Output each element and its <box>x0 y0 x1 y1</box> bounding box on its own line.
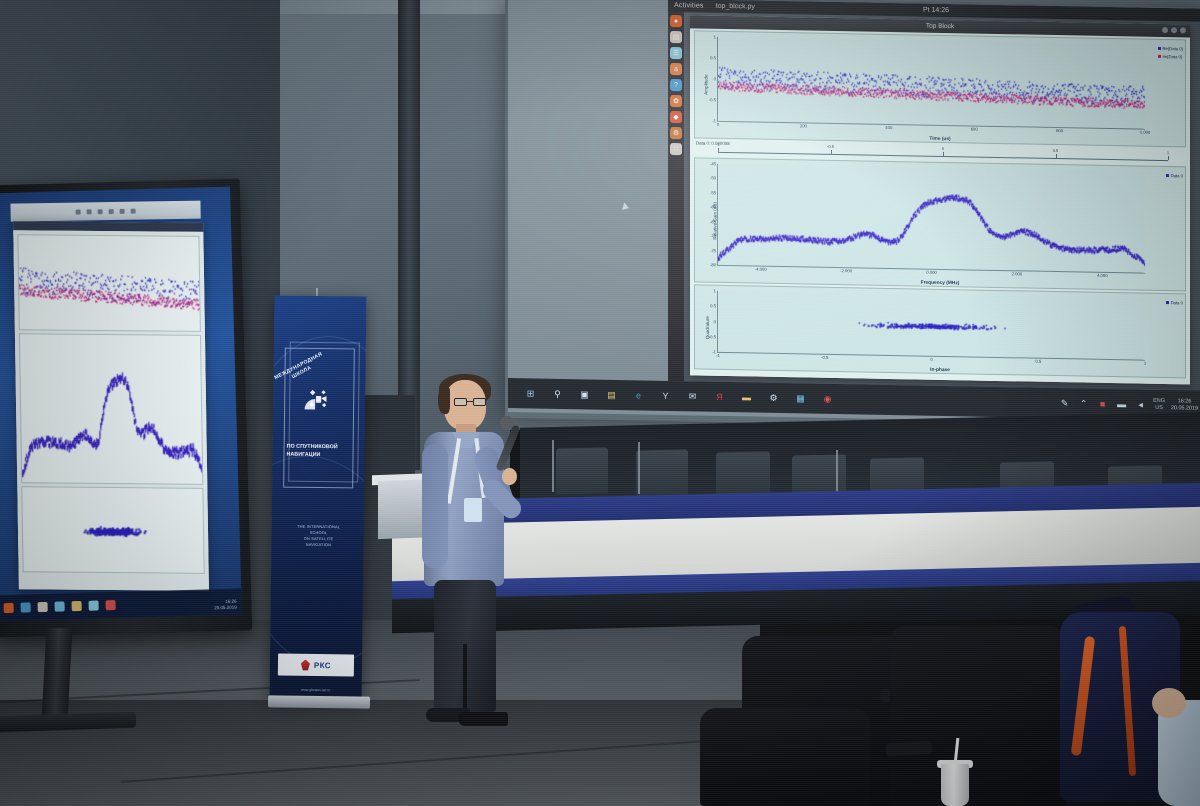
time-plot-legend[interactable]: Re{Data 0} Im{Data 0} <box>1158 46 1184 59</box>
audience-seat <box>890 626 1066 806</box>
slider-tick <box>1056 154 1057 158</box>
monitor-taskbar-icon[interactable] <box>71 601 81 611</box>
monitor-clock-date: 20.05.2019 <box>214 604 237 610</box>
constellation-plot[interactable]: Quadrature 1 0.5 0 -0.5 -1 -1 -0.5 0 0.5… <box>694 284 1186 378</box>
ytick: 0.5 <box>710 55 716 60</box>
xtick: 400 <box>885 125 892 130</box>
ytick: -0.5 <box>709 334 716 339</box>
xtick: 1 <box>1144 361 1146 366</box>
ytick: -55 <box>710 190 716 195</box>
stage-chair <box>716 451 770 498</box>
rks-logo: РКС <box>278 654 354 677</box>
xtick: 200 <box>800 123 807 128</box>
system-tray[interactable]: ✎ ⌃ ■ ▬ ◂ ENG US 16:26 20.05.2019 <box>1058 396 1198 412</box>
legend-entry: Data 0 <box>1166 173 1183 178</box>
const-plot-xlabel: In-phase <box>930 368 950 373</box>
ytick: -0.5 <box>709 97 716 102</box>
settings-gear-icon[interactable]: ⚙ <box>767 391 780 404</box>
legend-swatch <box>1166 174 1169 177</box>
time-domain-plot[interactable]: Amplitude 1 0.5 0 -0.5 -1 0 200 400 600 … <box>694 30 1186 147</box>
banner-title-en: THE INTERNATIONAL SCHOOL ON SATELLITE NA… <box>281 524 355 549</box>
media-player-icon[interactable]: ◉ <box>821 392 834 405</box>
slider-tick <box>943 152 944 156</box>
data-readout-label: Data 0: 0.000008 <box>696 140 730 146</box>
rks-logo-text: РКС <box>314 660 331 669</box>
monitor-taskbar-icon[interactable] <box>21 602 31 612</box>
xtick: -1 <box>716 353 720 358</box>
show-apps-icon[interactable]: ∷ <box>670 143 682 155</box>
window-controls[interactable] <box>1162 27 1186 33</box>
photos-icon[interactable]: ▦ <box>794 392 807 405</box>
task-view-icon[interactable]: ▣ <box>578 388 591 401</box>
banner-subtitle-ru: ПО СПУТНИКОВОЙ НАВИГАЦИИ <box>286 444 350 460</box>
xtick: 0 <box>930 357 932 362</box>
presenter <box>408 372 528 760</box>
ytick: 0.5 <box>710 303 716 308</box>
legend-entry: Re{Data 0} <box>1158 46 1184 51</box>
monitor-time-plot <box>17 234 201 332</box>
toolbar-icon[interactable] <box>131 208 136 213</box>
legend-label: Im{Data 0} <box>1163 54 1183 59</box>
volume-icon[interactable]: ◂ <box>1134 398 1147 411</box>
toolbar-icon[interactable] <box>87 209 92 214</box>
pen-icon[interactable]: ✎ <box>1058 397 1071 410</box>
text-editor-icon[interactable]: ☰ <box>670 47 682 59</box>
clock-date: 20.05.2019 <box>1171 405 1198 412</box>
seat-armrest <box>886 741 933 756</box>
maximize-icon[interactable] <box>1171 27 1177 33</box>
legend-entry: Im{Data 0} <box>1158 54 1184 59</box>
glasses-icon <box>454 398 486 406</box>
slider-tick-label: -1 <box>716 142 720 147</box>
freq-plot-pane: -45 -50 -55 -60 -65 -70 -75 -80 -4.000 -… <box>717 164 1145 274</box>
monitor-taskbar-icon[interactable] <box>88 600 98 610</box>
toolbar-icon[interactable] <box>120 208 125 213</box>
paper-cup <box>941 764 969 806</box>
conference-badge <box>464 498 482 522</box>
mouse-cursor-icon <box>622 202 630 212</box>
banner-base <box>268 695 370 708</box>
monitor-taskbar-icon[interactable] <box>105 600 115 610</box>
conference-room-scene: Activities top_block.py Pt 14:26 ●▤☰a?✿◆… <box>0 0 1200 806</box>
slider-tick-label: 0.5 <box>1053 148 1059 153</box>
ytick: 1 <box>714 34 716 39</box>
legend-swatch <box>1158 47 1161 50</box>
monitor-taskbar-icon[interactable] <box>4 603 14 613</box>
const-plot-legend[interactable]: Data 0 <box>1166 300 1183 305</box>
slider-tick <box>831 150 832 154</box>
backpack-trim <box>1071 636 1096 756</box>
legend-swatch <box>1166 301 1169 304</box>
legend-label: Data 0 <box>1171 173 1183 178</box>
monitor-constellation-trace <box>22 487 203 573</box>
presenter-shoe <box>458 712 508 726</box>
app-menu-title[interactable]: top_block.py <box>716 3 755 11</box>
slider-tick-label: 1 <box>1167 150 1169 155</box>
constellation-points <box>718 291 1145 360</box>
freq-plot-legend[interactable]: Data 0 <box>1166 173 1183 178</box>
ytick: -50 <box>710 176 716 181</box>
presenter-hair-side <box>438 388 450 414</box>
legend-swatch <box>1158 55 1161 58</box>
time-plot-ylabel: Amplitude <box>704 74 709 95</box>
xtick: 0 <box>717 122 719 127</box>
file-explorer-icon[interactable]: ▬ <box>740 391 753 404</box>
xtick: -0.5 <box>821 355 828 360</box>
confidence-monitor-screen[interactable]: 16:26 20.05.2019 <box>0 187 242 622</box>
frequency-spectrum-plot[interactable]: Relative Gain (dB) -45 -50 -55 -60 -65 -… <box>694 157 1186 291</box>
language-bottom: US <box>1153 405 1165 412</box>
monitor-mirrored-window[interactable] <box>13 221 209 591</box>
time-plot-pane: 1 0.5 0 -0.5 -1 0 200 400 600 800 1.000 <box>717 37 1145 130</box>
close-icon[interactable] <box>1180 27 1186 33</box>
toolbar-icon[interactable] <box>76 209 81 214</box>
table-microphone <box>552 440 554 492</box>
amazon-icon[interactable]: a <box>670 63 682 75</box>
ytick: -80 <box>710 262 716 267</box>
gnuradio-plot-stack: Amplitude 1 0.5 0 -0.5 -1 0 200 400 600 … <box>690 28 1190 384</box>
xtick: -2.000 <box>840 268 852 273</box>
ytick: 0 <box>714 76 716 81</box>
const-plot-pane: 1 0.5 0 -0.5 -1 -1 -0.5 0 0.5 1 <box>717 291 1145 361</box>
edge-browser-icon[interactable]: e <box>632 389 645 402</box>
xtick: 0.000 <box>926 270 936 275</box>
language-indicator[interactable]: ENG US <box>1153 398 1165 411</box>
chevron-up-icon[interactable]: ⌃ <box>1077 397 1090 410</box>
monitor-const-plot <box>21 486 204 574</box>
battery-icon[interactable]: ▬ <box>1115 398 1128 411</box>
toolbar-icon[interactable] <box>98 209 103 214</box>
monitor-stand <box>42 628 73 720</box>
backpack-trim <box>1119 626 1136 776</box>
yandex-app-icon[interactable]: Я <box>713 390 726 403</box>
help-icon[interactable]: ? <box>670 79 682 91</box>
presenter-hand <box>502 468 517 485</box>
files-icon[interactable]: ▤ <box>670 31 682 43</box>
time-plot-xlabel: Time (us) <box>929 137 950 142</box>
monitor-window-toolbar[interactable] <box>10 201 200 222</box>
table-microphone <box>638 442 640 494</box>
xtick: 4.000 <box>1097 273 1107 278</box>
monitor-plot-stack <box>13 230 209 591</box>
ytick: -1 <box>712 118 716 123</box>
ytick: -45 <box>710 161 716 166</box>
presenter-left-arm <box>422 444 448 568</box>
ytick: 0 <box>714 319 716 324</box>
monitor-taskbar-icon[interactable] <box>54 601 64 611</box>
mail-icon[interactable]: ✉ <box>686 390 699 403</box>
xtick: 1.000 <box>1140 130 1150 135</box>
xtick: 800 <box>1056 128 1063 133</box>
microsoft-store-icon[interactable]: ▤ <box>605 388 618 401</box>
legend-entry: Data 0 <box>1166 300 1183 305</box>
monitor-time-trace <box>18 235 200 331</box>
yandex-browser-icon[interactable]: Y <box>659 389 672 402</box>
gnuradio-icon[interactable]: ◆ <box>670 111 682 123</box>
gnuradio-top-block-window[interactable]: Top Block Amplitude 1 0.5 0 -0.5 <box>690 15 1190 384</box>
audience-seat <box>700 708 870 806</box>
monitor-tray[interactable]: 16:26 20.05.2019 <box>214 599 237 610</box>
settings-icon[interactable]: ⚙ <box>670 127 682 139</box>
slider-tick <box>718 148 719 152</box>
stage-chair <box>636 449 688 496</box>
monitor-spectrum-trace <box>20 334 202 484</box>
search-icon[interactable]: ⚲ <box>551 387 564 400</box>
ytick: -70 <box>710 233 716 238</box>
legend-label: Data 0 <box>1171 300 1183 305</box>
stage-chair <box>556 447 608 494</box>
slider-tick-label: -0.5 <box>827 144 834 149</box>
xtick: 600 <box>971 126 978 131</box>
spectrum-trace <box>718 164 1145 273</box>
slider-tick <box>1168 156 1169 160</box>
slider-tick-label: 0 <box>942 146 944 151</box>
monitor-taskbar-icon[interactable] <box>38 602 48 612</box>
gnome-clock[interactable]: Pt 14:26 <box>923 7 949 14</box>
xtick: 0.5 <box>1035 359 1041 364</box>
window-title: Top Block <box>926 23 954 31</box>
network-icon[interactable]: ■ <box>1096 397 1109 410</box>
ytick: -75 <box>710 248 716 253</box>
ytick: -60 <box>710 205 716 210</box>
legend-label: Re{Data 0} <box>1163 46 1184 51</box>
monitor-freq-plot <box>19 333 203 485</box>
time-domain-trace <box>718 37 1145 129</box>
rollup-banner: МЕЖДУНАРОДНАЯ ШКОЛА ПО СПУТНИКОВОЙ НАВИГ… <box>270 295 367 700</box>
ytick: -65 <box>710 219 716 224</box>
ytick: 1 <box>714 288 716 293</box>
xtick: -4.000 <box>755 267 767 272</box>
projection-screen: Activities top_block.py Pt 14:26 ●▤☰a?✿◆… <box>508 0 1200 425</box>
attendee-hand <box>1152 688 1186 718</box>
activities-button[interactable]: Activities <box>674 2 704 10</box>
xtick: 2.000 <box>1012 271 1022 276</box>
ubuntu-dock[interactable]: ●▤☰a?✿◆⚙∷ <box>668 12 684 381</box>
firefox-icon[interactable]: ● <box>670 15 682 27</box>
software-center-icon[interactable]: ✿ <box>670 95 682 107</box>
minimize-icon[interactable] <box>1162 27 1168 33</box>
presenter-leg-gap <box>463 644 467 714</box>
rks-logo-mark <box>301 659 310 670</box>
freq-plot-xlabel: Frequency (MHz) <box>921 281 960 287</box>
taskbar-clock[interactable]: 16:26 20.05.2019 <box>1171 398 1198 412</box>
toolbar-icon[interactable] <box>109 209 114 214</box>
microphone-head <box>500 416 514 430</box>
